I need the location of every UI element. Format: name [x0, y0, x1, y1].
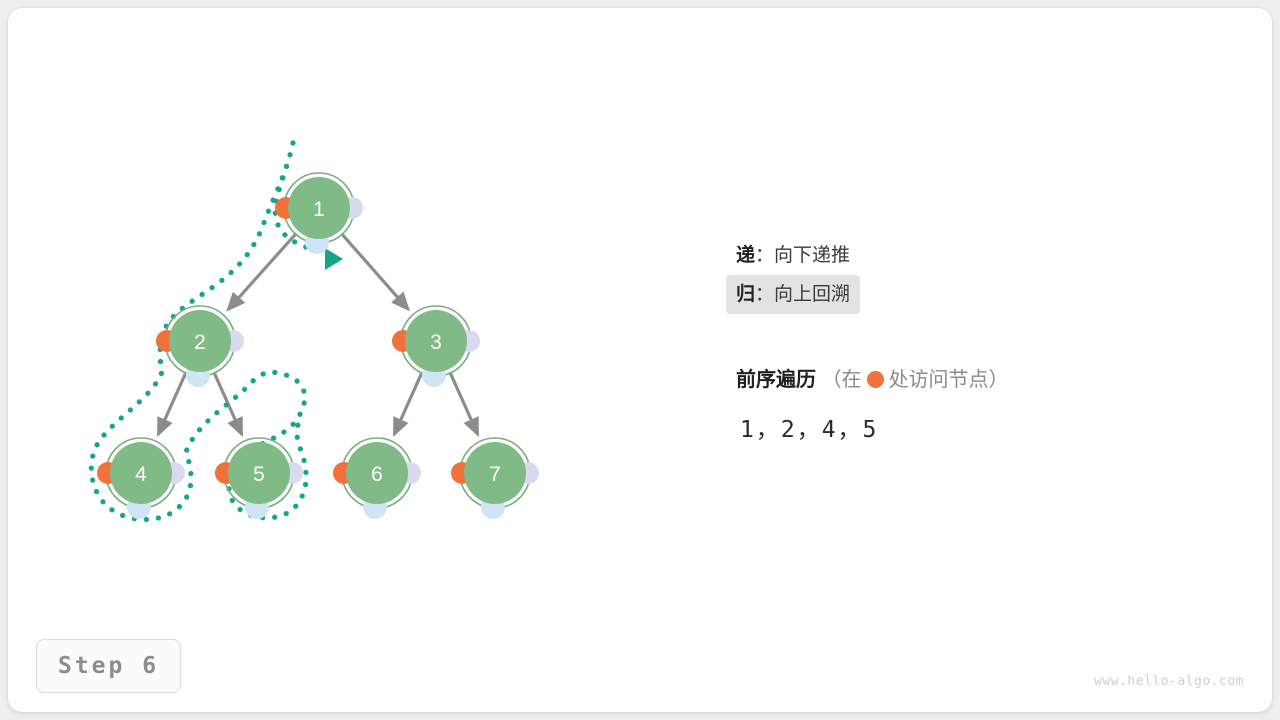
node-circle[interactable] — [464, 442, 526, 504]
node-label: 3 — [430, 331, 442, 354]
node-bottom-dot-icon — [422, 363, 446, 387]
node-outer-ring — [165, 306, 235, 376]
node-visit-dot-icon — [97, 462, 119, 484]
node-outer-ring — [401, 306, 471, 376]
recursion-path-dotted — [91, 143, 332, 519]
node-bottom-dot-icon — [245, 495, 269, 519]
tree-edge-n3-n6 — [394, 372, 422, 435]
legend-desc-backtrack: 向上回溯 — [774, 284, 850, 305]
traversal-output-values: 1，2，4，5 — [740, 410, 878, 444]
watermark: www.hello-algo.com — [1094, 674, 1244, 689]
node-label: 4 — [135, 463, 147, 486]
diagram-stage: 1234567 递：向下递推 归：向上回溯 前序遍历 （在处访问节点） 1，2，… — [8, 8, 1272, 712]
node-right-dot-icon — [517, 462, 539, 484]
tree-node-5[interactable]: 5 — [215, 438, 303, 519]
node-circle[interactable] — [228, 442, 290, 504]
traversal-title: 前序遍历 — [736, 369, 816, 391]
node-circle[interactable] — [110, 442, 172, 504]
traversal-note-prefix: （在 — [822, 369, 862, 391]
tree-nodes: 1234567 — [97, 173, 539, 519]
node-right-dot-icon — [458, 330, 480, 352]
legend-row-0: 递：向下递推 — [726, 236, 1246, 275]
node-visit-dot-icon — [275, 197, 297, 219]
node-circle[interactable] — [405, 310, 467, 372]
node-visit-dot-icon — [451, 462, 473, 484]
node-circle[interactable] — [169, 310, 231, 372]
legend-desc-recurse: 向下递推 — [774, 245, 850, 266]
cursor-triangle-icon — [325, 248, 343, 270]
visit-marker-dot-icon — [867, 371, 884, 388]
legend-row-1: 归：向上回溯 — [726, 275, 1246, 314]
tree-edge-n1-n3 — [341, 234, 408, 310]
tree-node-2[interactable]: 2 — [156, 306, 244, 387]
node-label: 5 — [253, 463, 265, 486]
node-visit-dot-icon — [156, 330, 178, 352]
node-bottom-dot-icon — [186, 363, 210, 387]
node-outer-ring — [106, 438, 176, 508]
legend-sep-0: ： — [755, 245, 774, 266]
tree-edge-n3-n7 — [450, 372, 478, 435]
legend-term-recurse: 递 — [736, 245, 755, 266]
tree-edge-n2-n5 — [214, 372, 242, 435]
node-outer-ring — [284, 173, 354, 243]
legend-panel: 递：向下递推 归：向上回溯 — [726, 236, 1246, 314]
tree-edges — [158, 233, 478, 434]
recursion-path — [91, 143, 332, 519]
binary-tree-diagram: 1234567 — [8, 8, 1272, 712]
step-badge: Step 6 — [36, 639, 181, 693]
legend-sep-1: ： — [755, 284, 774, 305]
node-visit-dot-icon — [333, 462, 355, 484]
current-position-marker-icon — [325, 248, 343, 270]
node-right-dot-icon — [341, 197, 363, 219]
legend-line-recurse: 递：向下递推 — [726, 236, 860, 275]
diagram-card: 1234567 递：向下递推 归：向上回溯 前序遍历 （在处访问节点） 1，2，… — [8, 8, 1272, 712]
node-bottom-dot-icon — [481, 495, 505, 519]
tree-node-7[interactable]: 7 — [451, 438, 539, 519]
tree-node-1[interactable]: 1 — [275, 173, 363, 254]
node-label: 6 — [371, 463, 383, 486]
node-right-dot-icon — [222, 330, 244, 352]
node-right-dot-icon — [281, 462, 303, 484]
tree-node-3[interactable]: 3 — [392, 306, 480, 387]
legend-term-backtrack: 归 — [736, 284, 755, 305]
node-circle[interactable] — [346, 442, 408, 504]
node-outer-ring — [460, 438, 530, 508]
node-label: 2 — [194, 331, 206, 354]
node-label: 1 — [313, 198, 325, 221]
tree-node-6[interactable]: 6 — [333, 438, 421, 519]
node-label: 7 — [489, 463, 501, 486]
node-bottom-dot-icon — [127, 495, 151, 519]
legend-line-backtrack: 归：向上回溯 — [726, 275, 860, 314]
node-right-dot-icon — [163, 462, 185, 484]
node-outer-ring — [224, 438, 294, 508]
node-bottom-dot-icon — [305, 230, 329, 254]
tree-edge-n2-n4 — [158, 372, 186, 435]
node-visit-dot-icon — [215, 462, 237, 484]
node-circle[interactable] — [288, 177, 350, 239]
node-right-dot-icon — [399, 462, 421, 484]
node-bottom-dot-icon — [363, 495, 387, 519]
node-visit-dot-icon — [392, 330, 414, 352]
traversal-title-row: 前序遍历 （在处访问节点） — [736, 363, 1009, 392]
tree-edge-n1-n2 — [228, 233, 296, 309]
traversal-note-suffix: 处访问节点） — [889, 369, 1009, 391]
node-outer-ring — [342, 438, 412, 508]
tree-node-4[interactable]: 4 — [97, 438, 185, 519]
